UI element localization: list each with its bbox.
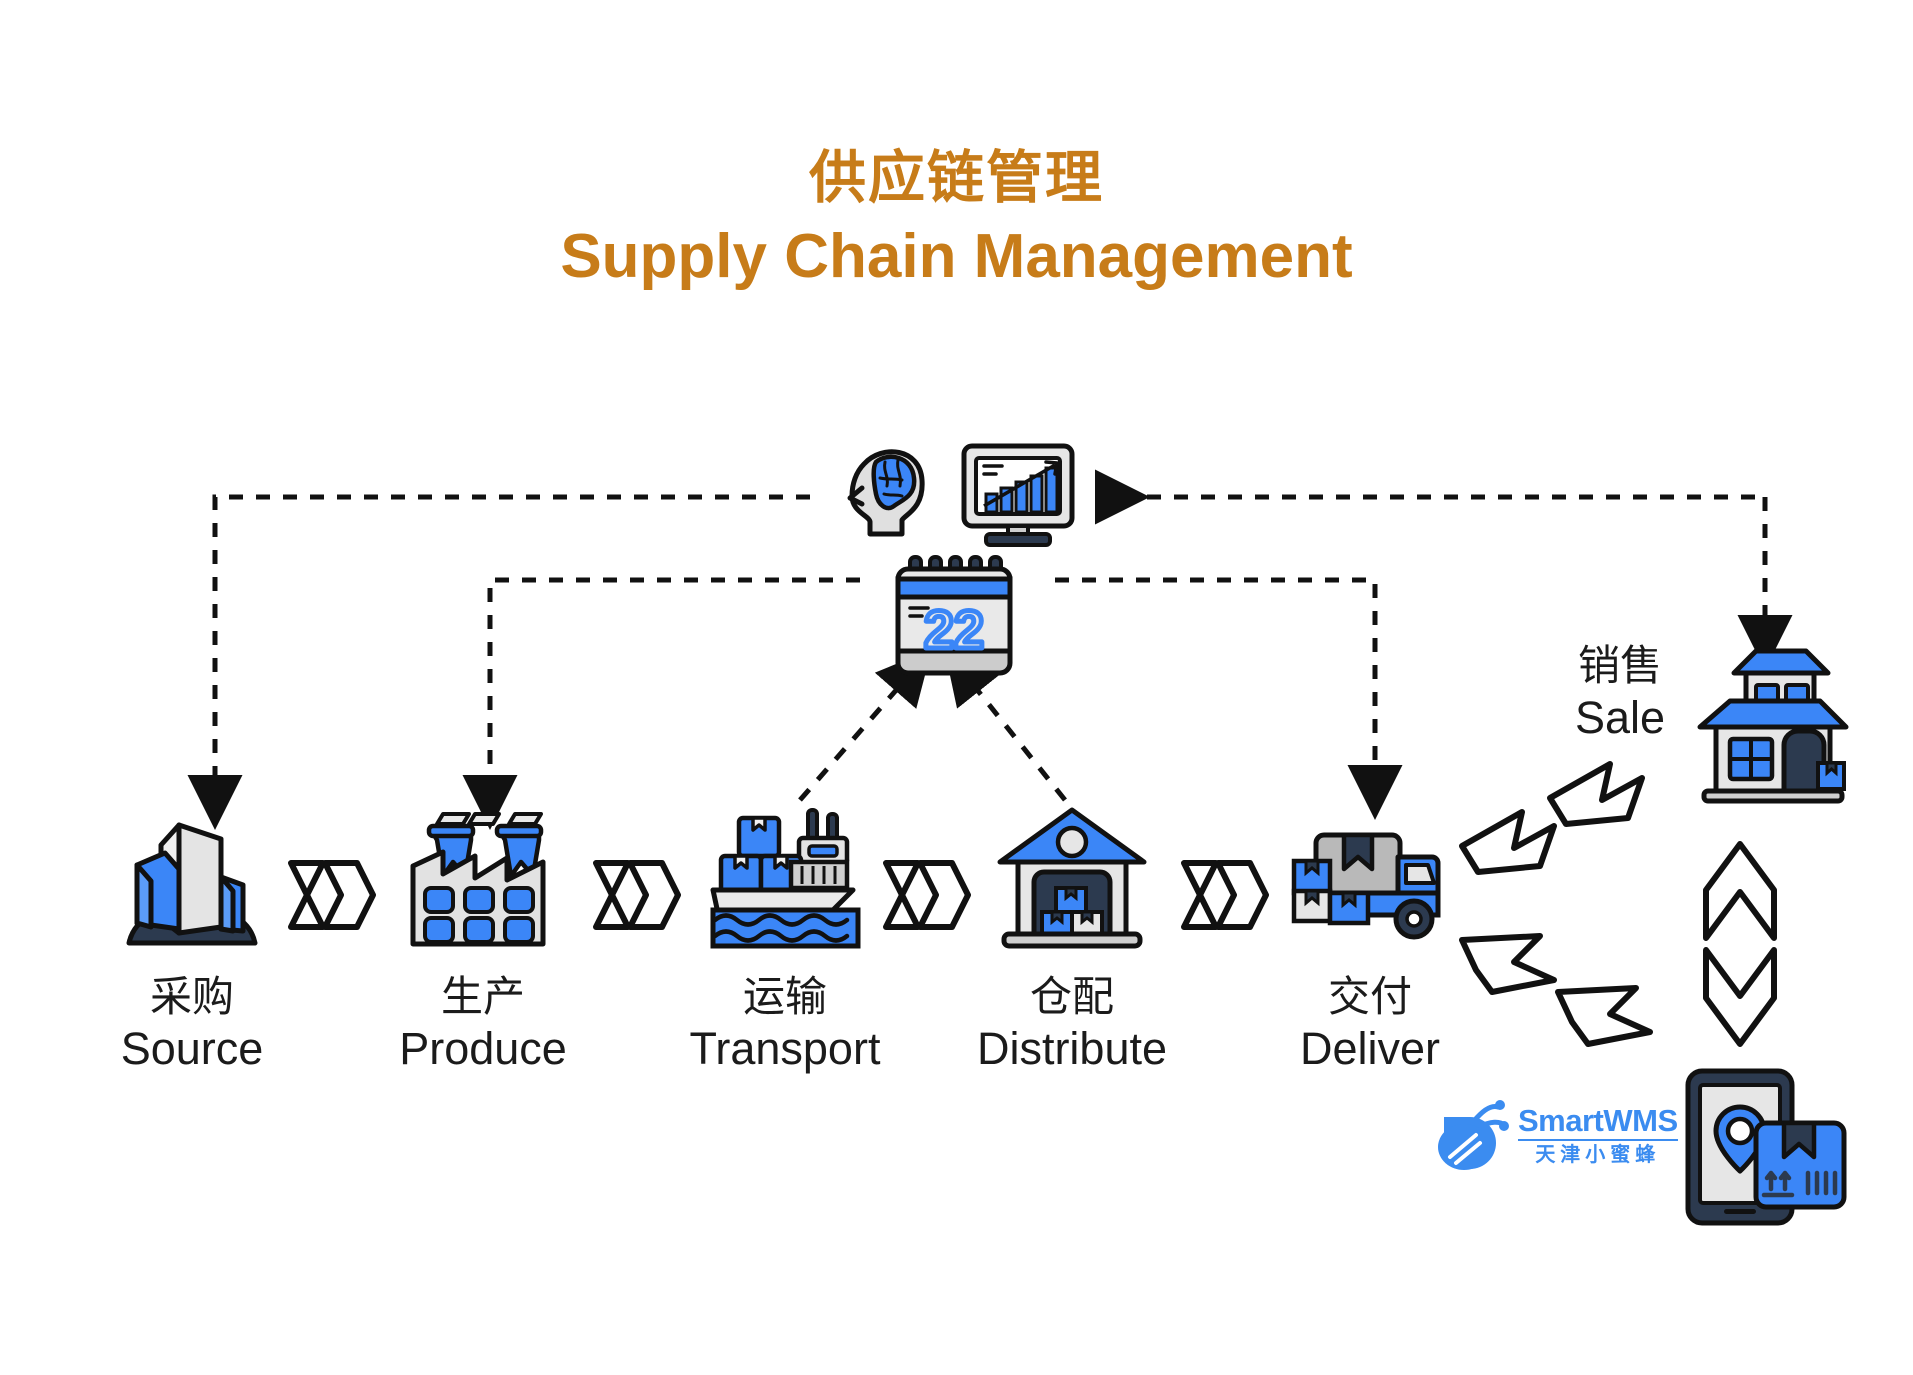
sale-label-en: Sale: [1540, 691, 1700, 745]
stage-source: 采购 Source: [92, 805, 292, 1076]
calendar-icon: 22: [888, 555, 1018, 675]
cargo-ship-icon: [685, 805, 885, 955]
brain-head-icon: [832, 438, 942, 548]
double-chevron-right-icon: [1178, 855, 1268, 935]
calendar-day: 22: [924, 600, 984, 660]
diagonal-chevron-down-right-icon: [1448, 930, 1668, 1050]
stage-produce: 生产 Produce: [383, 805, 583, 1076]
stage-label-cn: 运输: [685, 971, 885, 1022]
bee-logo-icon: [1430, 1095, 1508, 1175]
delivery-truck-icon: [1270, 805, 1470, 955]
stage-transport: 运输 Transport: [685, 805, 885, 1076]
stage-label-en: Transport: [685, 1022, 885, 1076]
logo-brand: SmartWMS: [1518, 1105, 1678, 1136]
chevron-down-icon: [1700, 940, 1780, 1050]
logo-subtitle: 天津小蜜蜂: [1518, 1145, 1678, 1165]
stage-label-en: Produce: [383, 1022, 583, 1076]
logo-divider: [1518, 1139, 1678, 1141]
warehouse-icon: [972, 805, 1172, 955]
stage-label-cn: 生产: [383, 971, 583, 1022]
double-chevron-right-icon: [880, 855, 970, 935]
stage-label-en: Source: [92, 1022, 292, 1076]
diagonal-chevron-up-right-icon: [1448, 760, 1668, 880]
stage-label-en: Distribute: [972, 1022, 1172, 1076]
smartwms-logo: SmartWMS 天津小蜜蜂: [1430, 1095, 1678, 1175]
stage-distribute: 仓配 Distribute: [972, 805, 1172, 1076]
stage-label-en: Deliver: [1270, 1022, 1470, 1076]
crystals-icon: [92, 805, 292, 955]
sale-label: 销售 Sale: [1540, 640, 1700, 745]
double-chevron-right-icon: [590, 855, 680, 935]
storefront-icon: [1690, 645, 1855, 810]
stage-label-cn: 交付: [1270, 971, 1470, 1022]
sale-label-cn: 销售: [1540, 640, 1700, 691]
stage-label-cn: 仓配: [972, 971, 1172, 1022]
stage-label-cn: 采购: [92, 971, 292, 1022]
mobile-tracking-icon: [1678, 1065, 1853, 1240]
double-chevron-right-icon: [285, 855, 375, 935]
chevron-up-icon: [1700, 838, 1780, 948]
stage-deliver: 交付 Deliver: [1270, 805, 1470, 1076]
analytics-monitor-icon: [958, 440, 1078, 550]
factory-icon: [383, 805, 583, 955]
